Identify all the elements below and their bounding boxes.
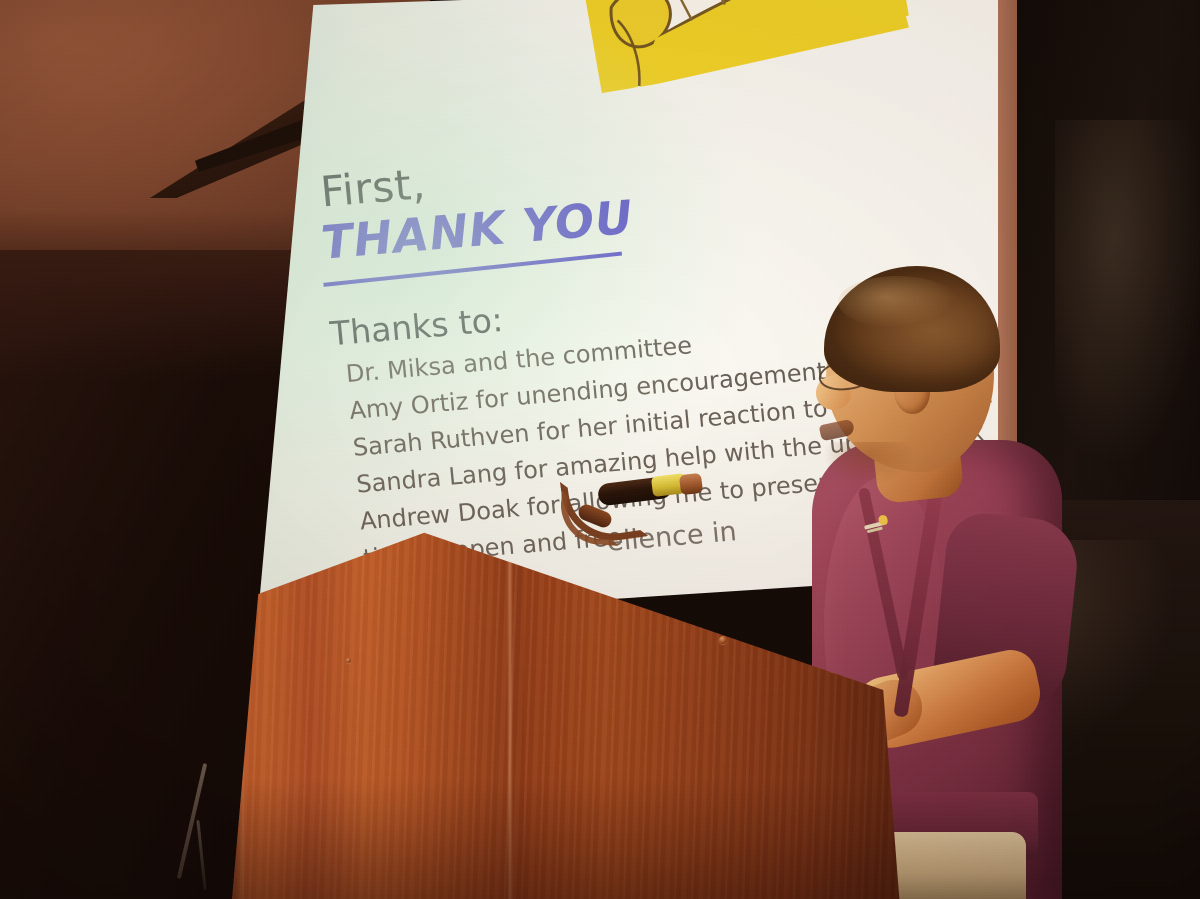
grinning-cartoon-face-icon <box>572 0 924 138</box>
gooseneck-microphone-icon <box>556 462 736 542</box>
photo-scene: First, THANK YOU Thanks to: Dr. Miksa an… <box>0 0 1200 899</box>
lectern-screw <box>719 636 727 644</box>
presenter-chin-shadow <box>824 442 914 486</box>
lectern-screw <box>346 658 351 663</box>
lectern-bottom-shadow <box>228 778 900 899</box>
mic-tip <box>679 473 703 496</box>
presenter-hair <box>824 266 1000 392</box>
